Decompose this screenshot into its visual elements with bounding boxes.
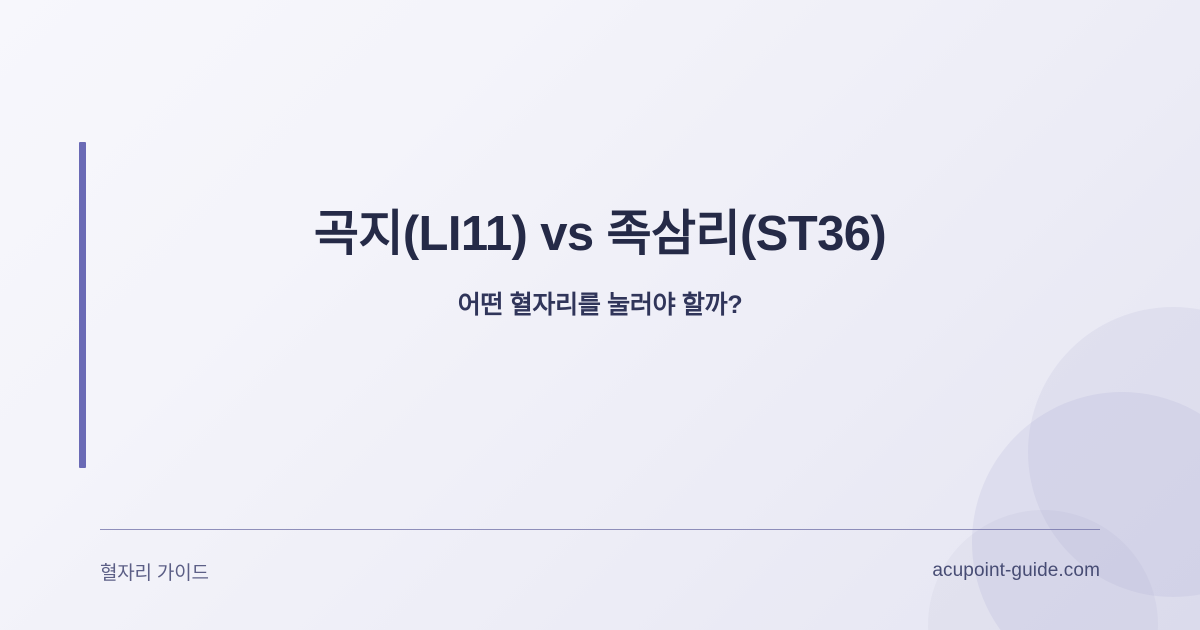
page-subtitle: 어떤 혈자리를 눌러야 할까? [110, 289, 1090, 322]
headline-block: 곡지(LI11) vs 족삼리(ST36) 어떤 혈자리를 눌러야 할까? [0, 206, 1200, 321]
footer-domain-label: acupoint-guide.com [932, 560, 1100, 582]
circle-large-icon [972, 392, 1200, 630]
og-share-card: 곡지(LI11) vs 족삼리(ST36) 어떤 혈자리를 눌러야 할까? 혈자… [0, 0, 1200, 630]
footer: 혈자리 가이드 acupoint-guide.com [100, 552, 1100, 590]
footer-brand-label: 혈자리 가이드 [100, 558, 209, 585]
footer-divider [100, 529, 1100, 530]
page-title: 곡지(LI11) vs 족삼리(ST36) [110, 206, 1090, 263]
